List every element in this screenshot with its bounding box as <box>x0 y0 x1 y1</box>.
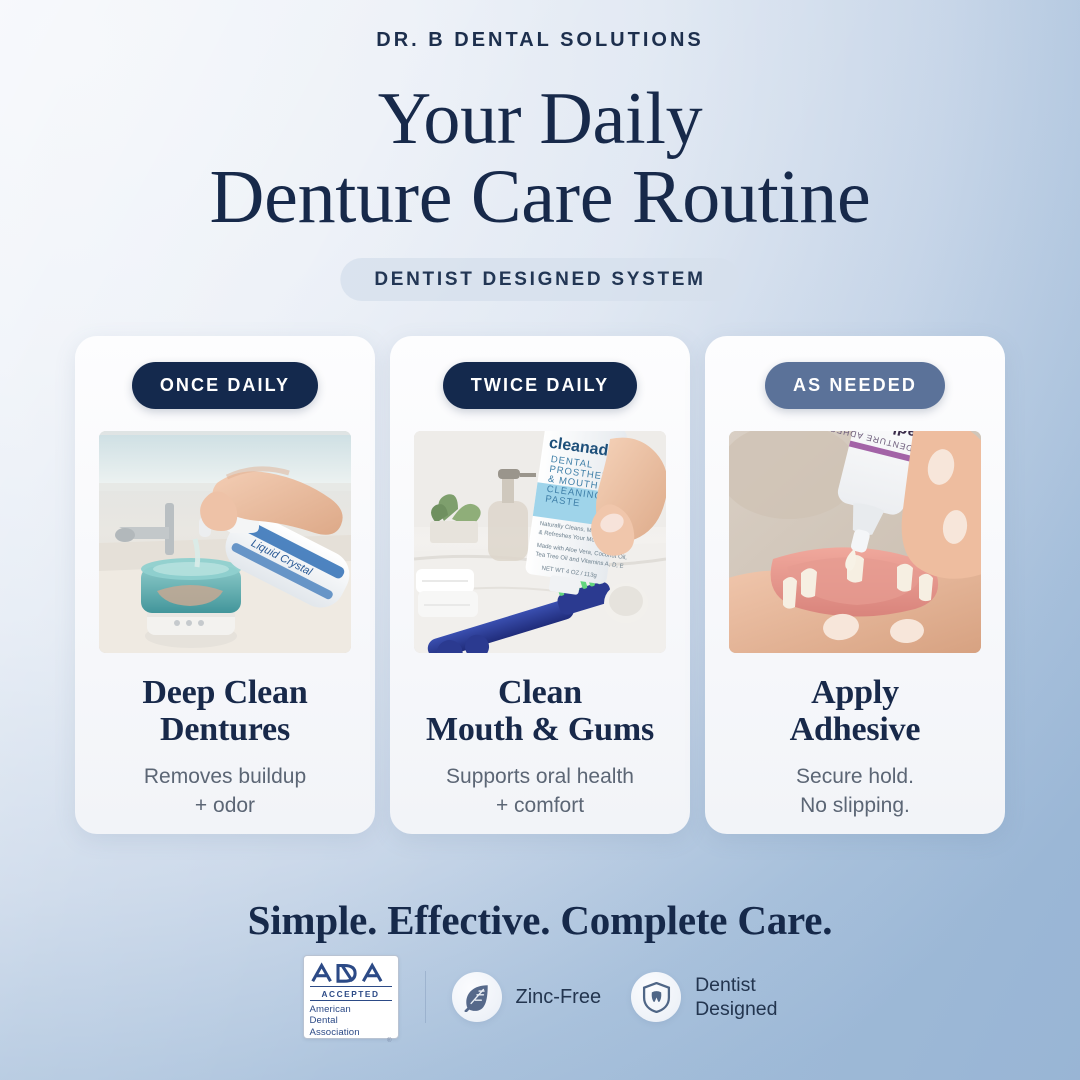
ada-monogram-icon <box>310 961 392 985</box>
trust-badge-zinc-free: Zinc-Free <box>452 972 602 1022</box>
trust-badge-label-line-2: Designed <box>695 998 777 1020</box>
ada-org-line-2: Dental <box>310 1015 392 1026</box>
product-photo-clean-mouth: cleanadent DENTALPROSTHETIC & MOUTHCLEAN… <box>414 431 666 653</box>
card-description: Supports oral health + comfort <box>446 762 634 820</box>
brand-eyebrow: DR. B DENTAL SOLUTIONS <box>0 29 1080 52</box>
card-title: Deep Clean Dentures <box>142 674 307 748</box>
routine-card[interactable]: ONCE DAILY <box>75 336 375 834</box>
card-desc-line-1: Removes buildup <box>144 765 306 788</box>
card-description: Removes buildup + odor <box>144 762 306 820</box>
card-desc-line-2: No slipping. <box>800 794 910 817</box>
leaf-icon <box>452 972 502 1022</box>
frequency-badge: TWICE DAILY <box>443 362 637 409</box>
footer-tagline: Simple. Effective. Complete Care. <box>0 896 1080 944</box>
ada-org-line-3: Association <box>310 1027 392 1038</box>
trust-badge-label-line-1: Dentist <box>695 974 756 996</box>
shield-tooth-icon <box>631 972 681 1022</box>
frequency-badge: AS NEEDED <box>765 362 945 409</box>
card-description: Secure hold. No slipping. <box>796 762 914 820</box>
card-title-line-1: Clean <box>498 674 582 711</box>
product-photo-apply-adhesive: adhesium DENTURE ADHESIVE Zinc-Free & So… <box>729 431 981 653</box>
trust-badge-label: Dentist Designed <box>695 973 777 1021</box>
routine-card[interactable]: TWICE DAILY <box>390 336 690 834</box>
product-photo-deep-clean: Liquid Crystal <box>99 431 351 653</box>
card-desc-line-1: Supports oral health <box>446 765 634 788</box>
trust-badge-dentist-designed: Dentist Designed <box>631 972 777 1022</box>
ada-registered-mark: ® <box>310 1038 392 1044</box>
headline-line-1: Your Daily <box>378 78 703 160</box>
card-desc-line-1: Secure hold. <box>796 765 914 788</box>
card-title-line-1: Deep Clean <box>142 674 307 711</box>
card-title-line-2: Dentures <box>160 711 290 748</box>
trust-badge-label: Zinc-Free <box>516 985 602 1009</box>
divider-1 <box>425 971 426 1023</box>
ada-accepted-label: ACCEPTED <box>310 986 392 1001</box>
frequency-badge: ONCE DAILY <box>132 362 318 409</box>
system-badge: DENTIST DESIGNED SYSTEM <box>340 258 739 301</box>
card-desc-line-2: + comfort <box>496 794 584 817</box>
card-title: Clean Mouth & Gums <box>426 674 654 748</box>
page-title: Your Daily Denture Care Routine <box>0 80 1080 236</box>
ada-accepted-seal: ACCEPTED American Dental Association ® <box>303 955 399 1039</box>
trust-badge-row: ACCEPTED American Dental Association ® Z… <box>0 955 1080 1039</box>
routine-card[interactable]: AS NEEDED <box>705 336 1005 834</box>
card-title-line-1: Apply <box>811 674 899 711</box>
routine-card-list: ONCE DAILY <box>75 336 1005 834</box>
card-desc-line-2: + odor <box>195 794 255 817</box>
card-title-line-2: Adhesive <box>790 711 921 748</box>
ada-org-line-1: American <box>310 1004 392 1015</box>
card-title-line-2: Mouth & Gums <box>426 711 654 748</box>
card-title: Apply Adhesive <box>790 674 921 748</box>
headline-line-2: Denture Care Routine <box>0 158 1080 236</box>
ada-organization-name: American Dental Association <box>310 1004 392 1038</box>
